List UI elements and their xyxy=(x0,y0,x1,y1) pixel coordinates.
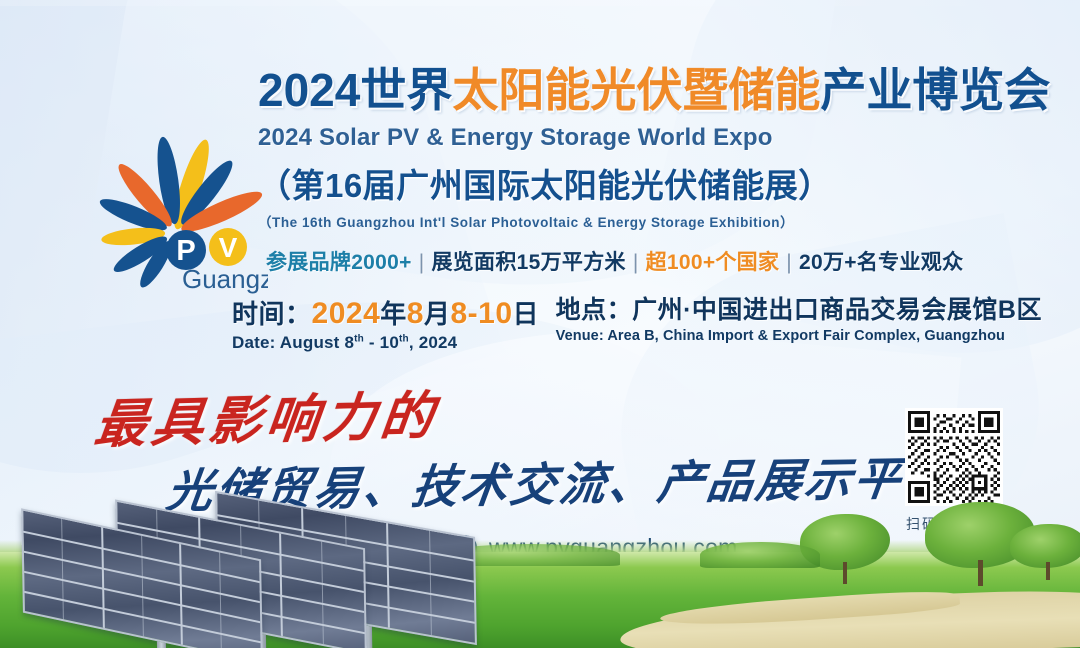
date-en-prefix: Date: August 8 xyxy=(232,333,354,352)
date-month: 8 xyxy=(407,297,424,330)
stat-separator-2: | xyxy=(626,251,646,274)
headline-block: 2024世界太阳能光伏暨储能产业博览会 2024 Solar PV & Ener… xyxy=(258,66,1058,231)
main-title-part3: 产业博览会 xyxy=(820,64,1050,116)
date-day-end: 10 xyxy=(478,297,512,330)
logo-p-glyph: P xyxy=(176,235,195,267)
tree-far-hedge-a xyxy=(700,542,820,568)
date-en-mid: - 10 xyxy=(364,333,399,352)
date-dash: - xyxy=(468,297,479,330)
stat-separator-3: | xyxy=(779,251,799,274)
main-title-part2: 太阳能光伏暨储能 xyxy=(452,64,820,116)
main-title-part1: 2024世界 xyxy=(258,64,452,116)
stat-area: 展览面积15万平方米 xyxy=(431,251,625,274)
slogan-line-1: 最具影响力的 xyxy=(91,374,443,458)
date-english: Date: August 8th - 10th, 2024 xyxy=(232,333,556,353)
venue-column: 地点：广州·中国进出口商品交易会展馆B区 Venue: Area B, Chin… xyxy=(556,296,1042,344)
venue-english: Venue: Area B, China Import & Export Fai… xyxy=(556,328,1042,344)
venue-chinese: 地点：广州·中国进出口商品交易会展馆B区 xyxy=(556,296,1042,326)
date-en-sup1: th xyxy=(354,334,364,345)
top-glow xyxy=(0,0,1080,6)
main-title: 2024世界太阳能光伏暨储能产业博览会 xyxy=(258,66,1058,115)
logo-v-glyph: V xyxy=(219,232,238,263)
pv-guangzhou-logo: P V Guangzhou xyxy=(58,104,268,294)
date-day-start: 8 xyxy=(450,297,467,330)
expo-poster: P V Guangzhou 2024世界太阳能光伏暨储能产业博览会 2024 S… xyxy=(0,0,1080,648)
title-english: 2024 Solar PV & Energy Storage World Exp… xyxy=(258,124,1058,152)
subtitle-chinese: （第16届广州国际太阳能光伏储能展） xyxy=(258,159,1058,207)
stat-countries: 超100+个国家 xyxy=(646,251,780,274)
stat-visitors: 20万+名专业观众 xyxy=(799,251,963,274)
date-year-unit: 年 xyxy=(380,299,407,329)
logo-letter-v: V xyxy=(209,228,247,266)
landscape-scene xyxy=(0,488,1080,648)
stats-strip: 参展品牌2000+|展览面积15万平方米|超100+个国家|20万+名专业观众 xyxy=(266,246,963,276)
date-column: 时间：2024年8月8-10日 Date: August 8th - 10th,… xyxy=(232,296,556,353)
date-day-unit: 日 xyxy=(513,299,540,329)
date-chinese: 时间：2024年8月8-10日 xyxy=(232,296,556,331)
date-en-sup2: th xyxy=(399,334,409,345)
date-month-unit: 月 xyxy=(424,299,451,329)
tree-right xyxy=(1010,524,1080,582)
stat-separator-1: | xyxy=(412,251,432,274)
subtitle-english: （The 16th Guangzhou Int'l Solar Photovol… xyxy=(258,211,1058,231)
date-year: 2024 xyxy=(312,297,381,330)
logo-wordmark: Guangzhou xyxy=(182,264,268,294)
date-label: 时间： xyxy=(232,299,312,329)
stat-brands: 参展品牌2000+ xyxy=(266,251,412,274)
date-venue-bar: 时间：2024年8月8-10日 Date: August 8th - 10th,… xyxy=(232,296,1042,353)
date-en-suffix: , 2024 xyxy=(409,333,457,352)
